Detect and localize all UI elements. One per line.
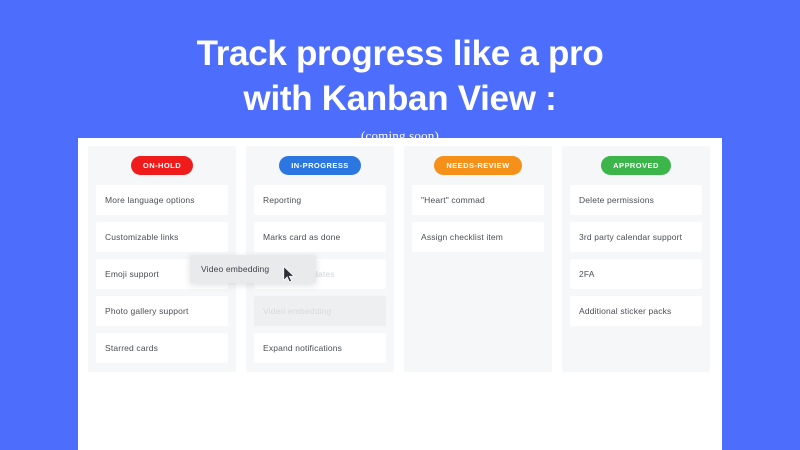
kanban-card-label: More language options: [105, 195, 195, 205]
column-header: NEEDS-REVIEW: [412, 155, 544, 175]
status-badge[interactable]: NEEDS-REVIEW: [434, 156, 521, 175]
kanban-column: APPROVEDDelete permissions3rd party cale…: [562, 146, 710, 372]
kanban-card-label: "Heart" commad: [421, 195, 485, 205]
column-header: IN-PROGRESS: [254, 155, 386, 175]
kanban-card[interactable]: Customizable links: [96, 222, 228, 252]
kanban-card[interactable]: Additional sticker packs: [570, 296, 702, 326]
kanban-card-label: 3rd party calendar support: [579, 232, 682, 242]
status-badge[interactable]: ON-HOLD: [131, 156, 193, 175]
kanban-card-label: Emoji support: [105, 269, 159, 279]
kanban-card-label: Additional sticker packs: [579, 306, 671, 316]
column-header: APPROVED: [570, 155, 702, 175]
kanban-card-label: Customizable links: [105, 232, 179, 242]
kanban-card-label: 2FA: [579, 269, 595, 279]
kanban-card-label: Photo gallery support: [105, 306, 188, 316]
hero-section: Track progress like a pro with Kanban Vi…: [0, 0, 800, 144]
kanban-columns: ON-HOLDMore language optionsCustomizable…: [78, 138, 722, 372]
kanban-card[interactable]: Photo gallery support: [96, 296, 228, 326]
dragged-card-label: Video embedding: [201, 264, 269, 274]
kanban-card[interactable]: Assign checklist item: [412, 222, 544, 252]
status-badge[interactable]: IN-PROGRESS: [279, 156, 360, 175]
kanban-card[interactable]: 3rd party calendar support: [570, 222, 702, 252]
kanban-card-label: Delete permissions: [579, 195, 654, 205]
page-title-line-2: with Kanban View :: [0, 77, 800, 122]
status-badge[interactable]: APPROVED: [601, 156, 671, 175]
kanban-card[interactable]: 2FA: [570, 259, 702, 289]
dragged-card[interactable]: Video embedding: [190, 255, 316, 283]
kanban-card[interactable]: Delete permissions: [570, 185, 702, 215]
kanban-board-panel: ON-HOLDMore language optionsCustomizable…: [78, 138, 722, 450]
page-title: Track progress like a pro with Kanban Vi…: [0, 0, 800, 122]
arrow-pointer-icon: [283, 266, 295, 284]
kanban-card[interactable]: Video embedding: [254, 296, 386, 326]
kanban-card[interactable]: More language options: [96, 185, 228, 215]
kanban-card-label: Expand notifications: [263, 343, 342, 353]
kanban-card[interactable]: Reporting: [254, 185, 386, 215]
kanban-card-label: Video embedding: [263, 306, 331, 316]
kanban-card[interactable]: Expand notifications: [254, 333, 386, 363]
kanban-card-label: Assign checklist item: [421, 232, 503, 242]
kanban-card[interactable]: Starred cards: [96, 333, 228, 363]
page-title-line-1: Track progress like a pro: [0, 32, 800, 77]
kanban-card[interactable]: Marks card as done: [254, 222, 386, 252]
kanban-card-label: Marks card as done: [263, 232, 340, 242]
column-header: ON-HOLD: [96, 155, 228, 175]
kanban-card-label: Reporting: [263, 195, 301, 205]
kanban-card[interactable]: "Heart" commad: [412, 185, 544, 215]
kanban-card-label: Starred cards: [105, 343, 158, 353]
kanban-column: NEEDS-REVIEW"Heart" commadAssign checkli…: [404, 146, 552, 372]
